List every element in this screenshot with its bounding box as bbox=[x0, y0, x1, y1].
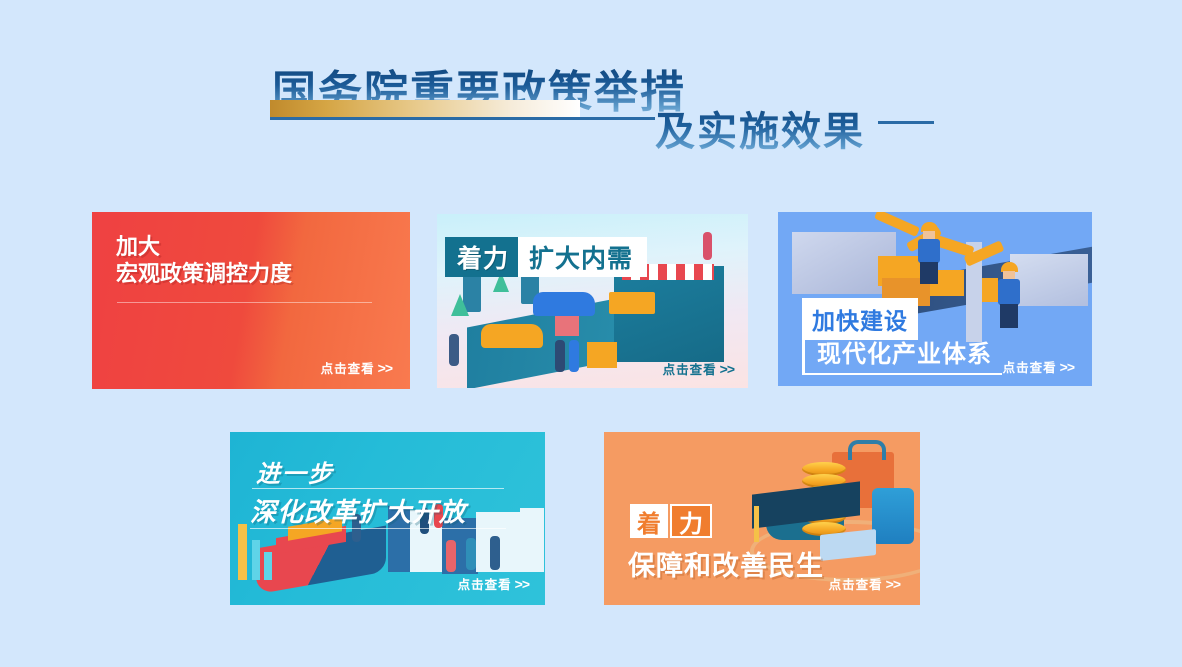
delivery-truck-icon bbox=[609, 292, 655, 314]
page-root: 国务院重要政策举措 及实施效果 bbox=[0, 0, 1182, 667]
visitor-icon-5 bbox=[466, 538, 476, 570]
card4-title-rule-1 bbox=[252, 488, 504, 489]
person-dot-icon bbox=[449, 334, 459, 366]
card1-cta-arrows-icon: >> bbox=[378, 360, 392, 376]
card2-title-prefix: 着力 bbox=[445, 237, 518, 277]
card5-title-banner: 着 力 bbox=[630, 504, 712, 538]
worker-illustration-2 bbox=[996, 262, 1022, 328]
person-dot-icon-3 bbox=[569, 340, 579, 372]
policy-card-reform-opening[interactable]: 进一步 深化改革扩大开放 点击查看>> bbox=[230, 432, 545, 605]
card3-cta-label: 点击查看 bbox=[1003, 361, 1057, 375]
card1-cta-label: 点击查看 bbox=[321, 362, 375, 376]
card3-title-line2: 现代化产业体系 bbox=[802, 330, 1002, 375]
card4-cta-label: 点击查看 bbox=[458, 578, 512, 592]
person-dot-icon-4 bbox=[703, 232, 712, 260]
package-box-icon bbox=[587, 342, 617, 368]
page-header: 国务院重要政策举措 及实施效果 bbox=[0, 0, 1182, 185]
tree-icon bbox=[451, 294, 469, 316]
card2-cta[interactable]: 点击查看>> bbox=[663, 359, 734, 378]
card4-cta-arrows-icon: >> bbox=[515, 576, 529, 592]
card4-title-rule-2 bbox=[250, 528, 506, 529]
car-yellow-icon bbox=[481, 324, 543, 348]
card4-title-line1: 进一步 bbox=[256, 454, 334, 489]
card2-cta-arrows-icon: >> bbox=[720, 361, 734, 377]
card1-cta[interactable]: 点击查看>> bbox=[321, 358, 392, 377]
card2-title-main: 扩大内需 bbox=[518, 237, 647, 277]
card1-title-line2: 宏观政策调控力度 bbox=[116, 261, 292, 286]
briefcase-handle-icon bbox=[848, 440, 886, 460]
card4-title-line2: 深化改革扩大开放 bbox=[250, 492, 466, 529]
policy-card-livelihood[interactable]: 着 力 保障和改善民生 点击查看>> bbox=[604, 432, 920, 605]
card5-title-main: 保障和改善民生 bbox=[628, 544, 824, 583]
visitor-icon-4 bbox=[446, 540, 456, 572]
card3-cta[interactable]: 点击查看>> bbox=[1003, 357, 1074, 376]
card1-title-line1: 加大 bbox=[116, 234, 160, 259]
card3-cta-arrows-icon: >> bbox=[1060, 359, 1074, 375]
visitor-icon-6 bbox=[490, 536, 500, 570]
worker-illustration bbox=[916, 222, 942, 282]
card2-cta-label: 点击查看 bbox=[663, 363, 717, 377]
title-tail-dash bbox=[878, 121, 934, 124]
package-box-icon-2 bbox=[555, 314, 579, 336]
title-blue-rule bbox=[270, 117, 655, 120]
card1-title-rule bbox=[117, 302, 372, 303]
card5-title-prefix2: 力 bbox=[670, 504, 712, 538]
card1-title: 加大宏观政策调控力度 bbox=[116, 234, 292, 288]
card5-title-prefix: 着 bbox=[630, 504, 668, 538]
exhibition-booth-icon-5 bbox=[520, 508, 544, 572]
card5-cta[interactable]: 点击查看>> bbox=[829, 574, 900, 593]
card5-cta-label: 点击查看 bbox=[829, 578, 883, 592]
card2-title-banner: 着力 扩大内需 bbox=[445, 237, 647, 277]
bar-indicator-icon bbox=[238, 524, 247, 580]
bar-indicator-icon-3 bbox=[264, 552, 272, 580]
page-title-line2: 及实施效果 bbox=[655, 99, 865, 157]
shop-building-illustration bbox=[614, 266, 724, 362]
policy-card-macro-control[interactable]: 加大宏观政策调控力度 点击查看>> bbox=[92, 212, 410, 389]
title-gold-underline bbox=[270, 100, 580, 117]
person-dot-icon-2 bbox=[555, 340, 565, 372]
card4-cta[interactable]: 点击查看>> bbox=[458, 574, 529, 593]
policy-card-modern-industry[interactable]: 加快建设 现代化产业体系 点击查看>> bbox=[778, 212, 1092, 386]
graduation-tassel-icon bbox=[754, 506, 759, 542]
medicine-jar-icon bbox=[872, 488, 914, 544]
car-blue-icon bbox=[533, 292, 595, 316]
policy-card-expand-demand[interactable]: 着力 扩大内需 点击查看>> bbox=[437, 214, 748, 388]
bar-indicator-icon-2 bbox=[252, 540, 260, 580]
card5-cta-arrows-icon: >> bbox=[886, 576, 900, 592]
